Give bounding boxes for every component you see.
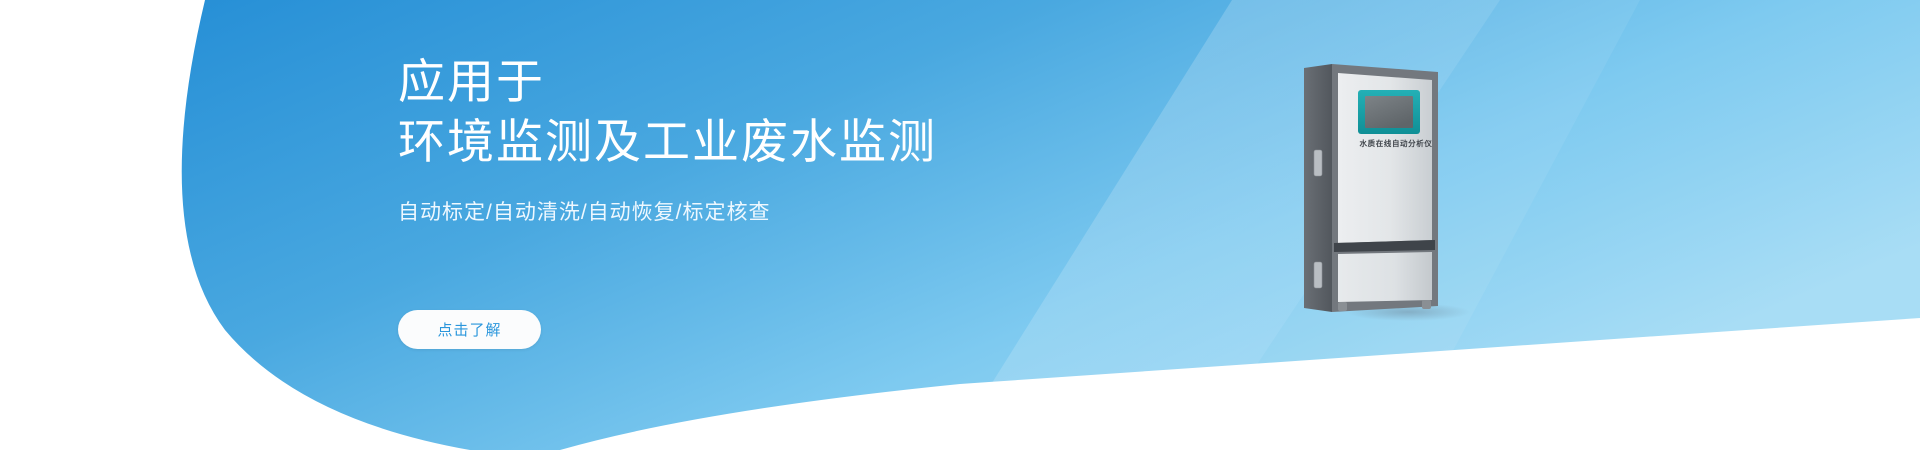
hero-copy: 应用于 环境监测及工业废水监测 自动标定/自动清洗/自动恢复/标定核查 bbox=[398, 52, 1118, 228]
learn-more-button[interactable]: 点击了解 bbox=[398, 310, 541, 349]
caster-left bbox=[1338, 302, 1347, 311]
device-lower-door bbox=[1338, 252, 1432, 302]
analyzer-illustration bbox=[1298, 62, 1473, 322]
hero-banner: 应用于 环境监测及工业废水监测 自动标定/自动清洗/自动恢复/标定核查 点击了解 bbox=[0, 0, 1920, 450]
headline-line-1: 应用于 bbox=[398, 52, 1118, 112]
lower-handle bbox=[1314, 262, 1322, 288]
device-label-text: 水质在线自动分析仪 bbox=[1336, 138, 1456, 149]
page-title: 应用于 环境监测及工业废水监测 bbox=[398, 52, 1118, 172]
caster-right bbox=[1422, 300, 1431, 309]
product-image: 水质在线自动分析仪 bbox=[1298, 62, 1473, 322]
headline-line-2: 环境监测及工业废水监测 bbox=[398, 112, 1118, 172]
screen-display bbox=[1365, 96, 1413, 128]
hero-subtitle: 自动标定/自动清洗/自动恢复/标定核查 bbox=[398, 172, 1118, 227]
upper-handle bbox=[1314, 150, 1322, 176]
